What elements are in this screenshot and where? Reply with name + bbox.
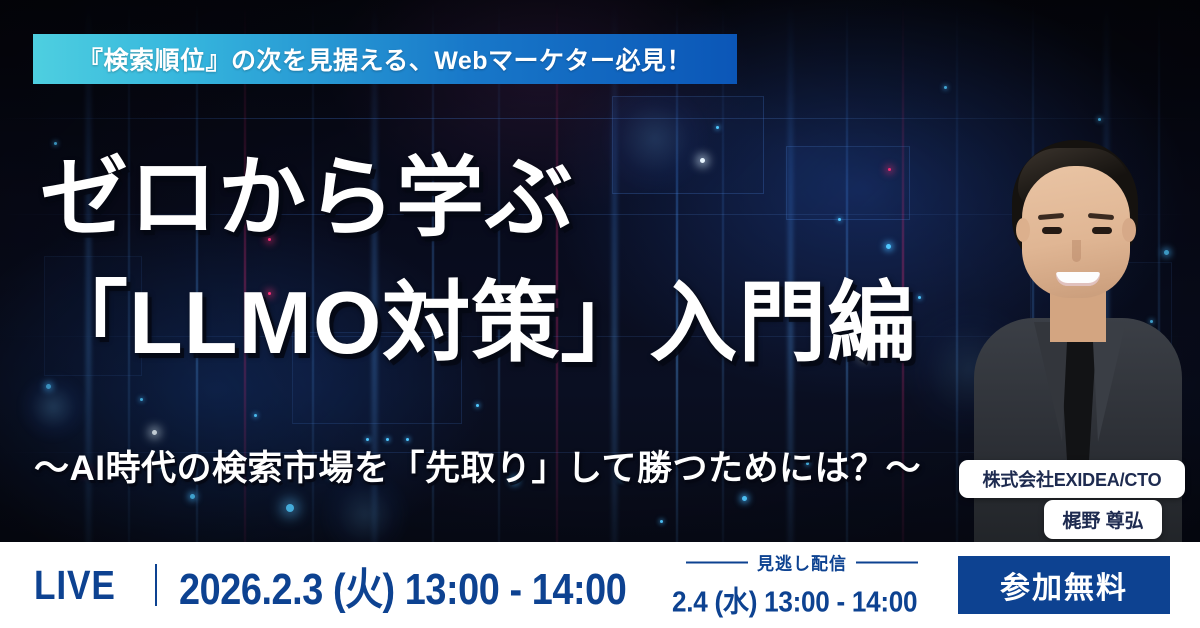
live-schedule: LIVE 2026.2.3 (火) 13:00 - 14:00 [34,553,699,617]
ondemand-schedule: 見逃し配信 2.4 (水) 13:00 - 14:00 [672,550,932,621]
live-datetime: 2026.2.3 (火) 13:00 - 14:00 [179,553,626,617]
kicker-band: 『検索順位』の次を見据える、Webマーケター必見！ [33,34,737,84]
ondemand-heading: 見逃し配信 [672,550,932,575]
ondemand-datetime: 2.4 (水) 13:00 - 14:00 [672,579,906,621]
live-divider [155,564,157,606]
bottom-info-bar: LIVE 2026.2.3 (火) 13:00 - 14:00 見逃し配信 2.… [0,542,1200,628]
webinar-banner: 『検索順位』の次を見据える、Webマーケター必見！ ゼロから学ぶ 「LLMO対策… [0,0,1200,628]
speaker-name-tag: 梶野 尊弘 [1044,500,1162,539]
headline-line-2: 「LLMO対策」入門編 [40,277,916,369]
live-label: LIVE [34,562,116,609]
rule-left-icon [686,561,748,563]
headline-subtitle: 〜AI時代の検索市場を「先取り」して勝つためには？〜 [34,440,921,491]
headline-line-1: ゼロから学ぶ [40,152,574,244]
ondemand-label: 見逃し配信 [757,550,847,575]
register-free-button[interactable]: 参加無料 [958,556,1170,614]
speaker-block: 株式会社EXIDEA/CTO 梶野 尊弘 [958,122,1194,542]
kicker-text: 『検索順位』の次を見据える、Webマーケター必見！ [78,41,692,77]
rule-right-icon [856,561,918,563]
speaker-company-tag: 株式会社EXIDEA/CTO [959,460,1185,498]
